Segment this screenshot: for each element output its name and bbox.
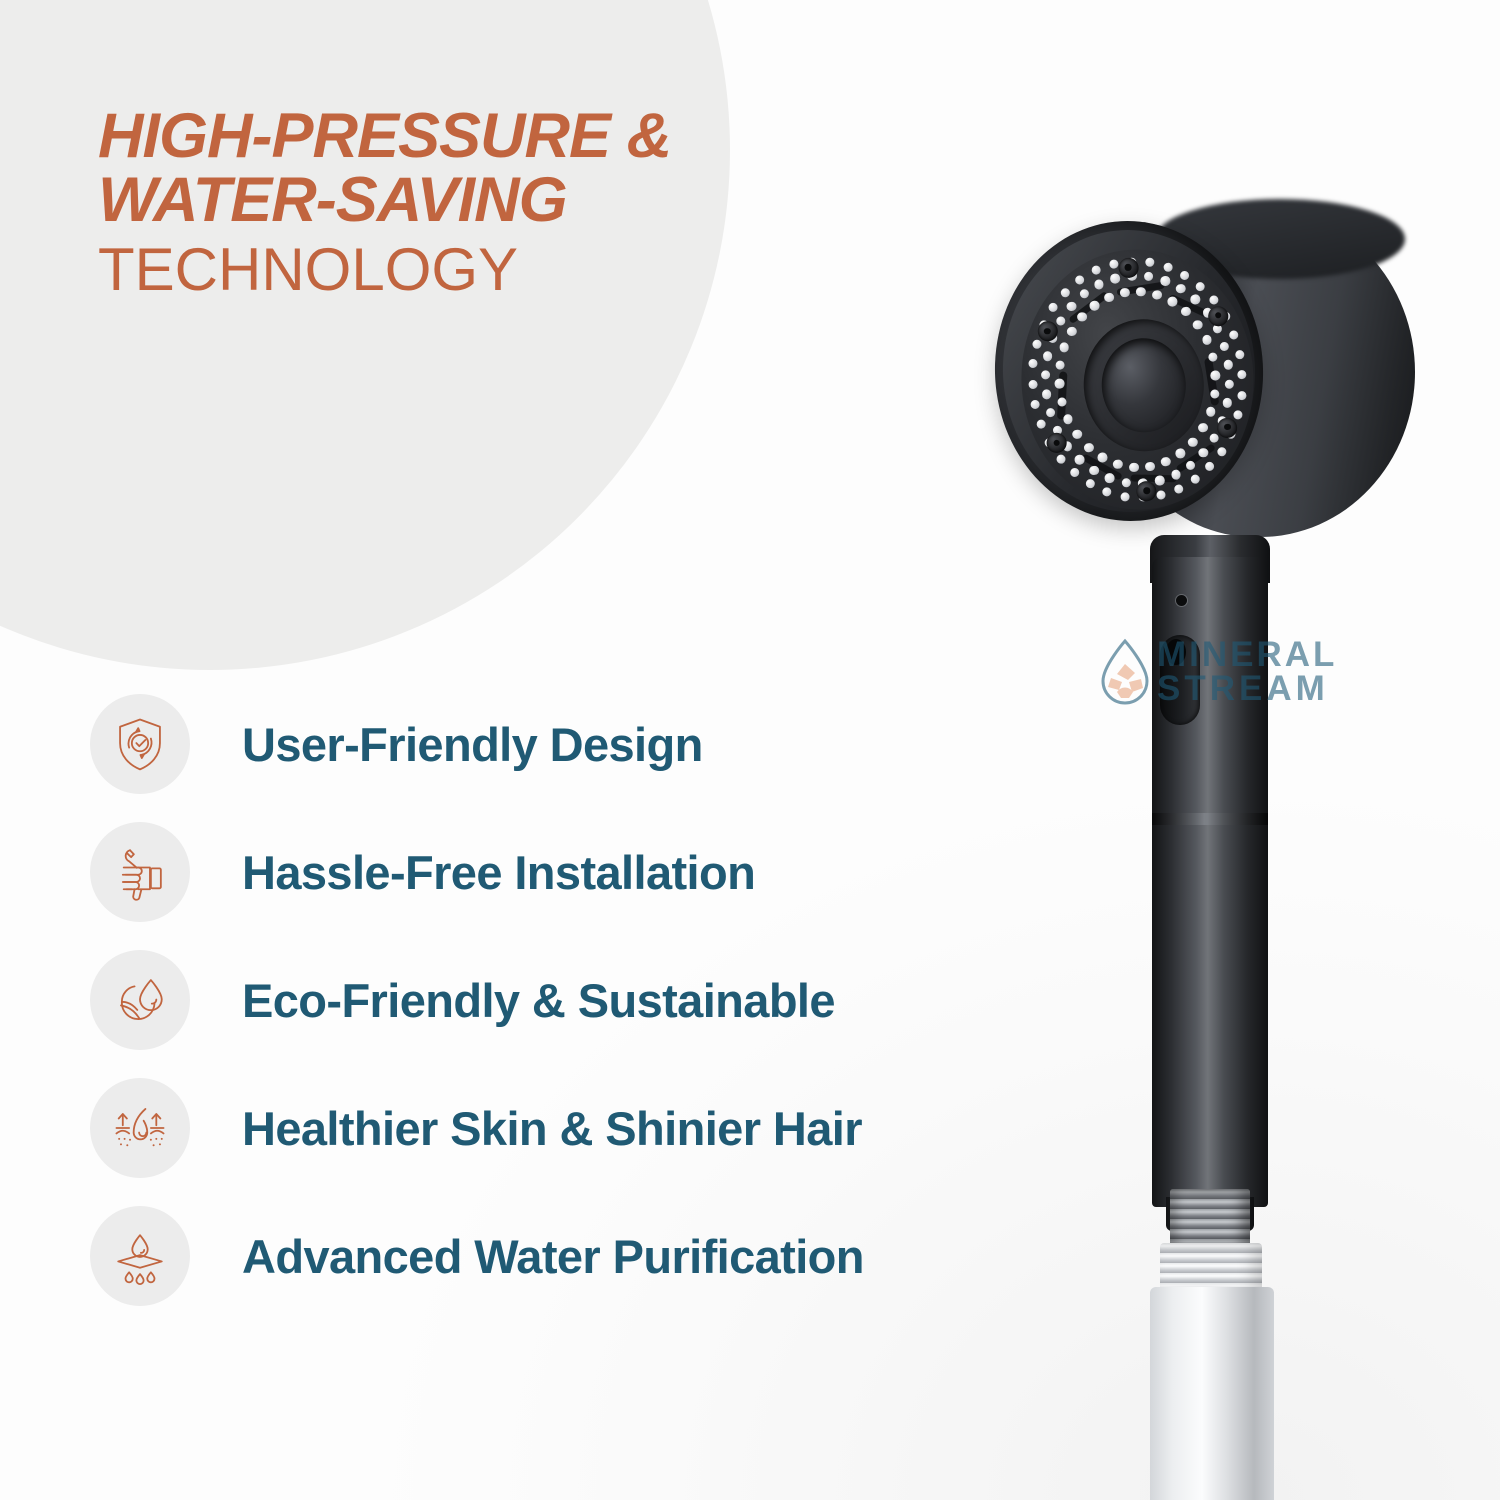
spray-nozzle	[1030, 400, 1039, 409]
spray-nozzle	[1202, 335, 1212, 345]
icon-badge	[90, 1078, 190, 1178]
spray-nozzle	[1152, 290, 1162, 300]
jet-port	[1136, 481, 1157, 502]
spray-nozzle	[1238, 370, 1247, 379]
spray-nozzle	[1056, 316, 1066, 326]
jet-port	[1208, 305, 1229, 326]
spray-nozzle	[1193, 320, 1203, 330]
feature-item-healthier-skin-shinier-hair: Healthier Skin & Shinier Hair	[90, 1064, 1090, 1192]
spray-nozzle	[1160, 276, 1170, 286]
spray-nozzle	[1163, 262, 1172, 271]
hair-follicle-arrows-icon	[111, 1099, 169, 1157]
spray-nozzle	[1136, 287, 1146, 297]
spray-nozzle	[1089, 466, 1099, 476]
spray-nozzle	[1210, 370, 1220, 380]
shower-head	[985, 185, 1415, 575]
icon-badge	[90, 950, 190, 1050]
feature-item-user-friendly-design: User-Friendly Design	[90, 680, 1090, 808]
spray-nozzle	[1145, 462, 1155, 472]
spray-nozzle	[1046, 408, 1056, 418]
spray-nozzle	[1110, 273, 1120, 283]
threaded-metal-connector	[1170, 1189, 1250, 1247]
feature-label: User-Friendly Design	[242, 717, 703, 772]
headline-line-2: WATER-SAVING	[98, 168, 798, 232]
spray-nozzle	[1028, 359, 1037, 368]
water-filter-drops-icon	[111, 1227, 169, 1285]
spray-nozzle	[1204, 462, 1213, 471]
spray-nozzle	[1061, 288, 1070, 297]
spray-nozzle	[1063, 414, 1073, 424]
spray-nozzle	[1090, 301, 1100, 311]
spray-nozzle	[1040, 370, 1050, 380]
spray-nozzle	[1104, 292, 1114, 302]
spray-nozzle	[1092, 266, 1101, 275]
feature-list: User-Friendly Design	[90, 680, 1090, 1320]
spray-nozzle	[1067, 326, 1077, 336]
feature-item-eco-friendly-sustainable: Eco-Friendly & Sustainable	[90, 936, 1090, 1064]
spray-nozzle	[1102, 487, 1111, 496]
spray-nozzle	[1085, 479, 1094, 488]
shield-check-refresh-icon	[111, 715, 169, 773]
spray-nozzle	[1066, 301, 1076, 311]
feature-label: Advanced Water Purification	[242, 1229, 864, 1284]
spray-nozzle	[1233, 411, 1242, 420]
spray-nozzle	[1167, 296, 1177, 306]
shower-head-spray-plate	[1015, 244, 1260, 516]
spray-nozzle	[1121, 478, 1131, 488]
hand-water-drop-icon	[111, 971, 169, 1029]
spray-nozzle	[1120, 288, 1130, 298]
spray-nozzle	[1223, 360, 1233, 370]
spray-nozzle	[1180, 270, 1189, 279]
spray-nozzle	[1209, 295, 1218, 304]
spray-nozzle	[1036, 420, 1045, 429]
spray-nozzle	[1217, 447, 1226, 456]
spray-nozzle	[1190, 294, 1200, 304]
plate-slot	[1204, 357, 1219, 406]
spray-nozzle	[1222, 398, 1232, 408]
feature-label: Healthier Skin & Shinier Hair	[242, 1101, 862, 1156]
feature-label: Eco-Friendly & Sustainable	[242, 973, 835, 1028]
spray-nozzle	[1084, 443, 1094, 453]
product-image-handheld-shower-head	[960, 175, 1500, 1500]
spray-nozzle	[1205, 407, 1215, 417]
hand-wrench-icon	[111, 843, 169, 901]
spray-nozzle	[1175, 449, 1185, 459]
spray-nozzle	[1188, 437, 1198, 447]
icon-badge	[90, 1206, 190, 1306]
spray-nozzle	[1075, 455, 1085, 465]
spray-nozzle	[1042, 389, 1052, 399]
hose-coupler-body	[1150, 1287, 1274, 1500]
handle-vent-hole	[1176, 595, 1187, 606]
spray-nozzle	[1190, 474, 1199, 483]
spray-mode-button[interactable]	[1160, 635, 1200, 725]
shower-handle	[1152, 557, 1268, 1207]
handle-seam-ring	[1152, 813, 1268, 825]
shower-head-rim	[996, 224, 1262, 519]
headline-line-3: TECHNOLOGY	[98, 239, 798, 300]
spray-nozzle	[1181, 307, 1191, 317]
spray-nozzle	[1032, 339, 1041, 348]
spray-nozzle	[1237, 391, 1246, 400]
shower-head-center-jet	[1099, 336, 1188, 434]
spray-nozzle	[1174, 484, 1183, 493]
spray-nozzle	[1198, 423, 1208, 433]
spray-nozzle	[1055, 379, 1065, 389]
spray-nozzle	[1186, 460, 1196, 470]
headline-ampersand: &	[627, 101, 672, 171]
spray-nozzle	[1156, 490, 1165, 499]
feature-label: Hassle-Free Installation	[242, 845, 755, 900]
spray-nozzle	[1028, 380, 1037, 389]
spray-nozzle	[1043, 351, 1053, 361]
icon-badge	[90, 694, 190, 794]
spray-nozzle	[1077, 312, 1087, 322]
spray-nozzle	[1219, 341, 1229, 351]
spray-nozzle	[1229, 330, 1238, 339]
spray-nozzle	[1105, 473, 1115, 483]
spray-nozzle	[1075, 275, 1084, 284]
spray-nozzle	[1176, 284, 1186, 294]
spray-nozzle	[1049, 303, 1058, 312]
spray-nozzle	[1059, 343, 1069, 353]
spray-nozzle	[1145, 258, 1154, 267]
hose-coupler-thread	[1160, 1243, 1262, 1293]
spray-nozzle	[1224, 379, 1234, 389]
spray-nozzle	[1072, 430, 1082, 440]
spray-nozzle	[1098, 453, 1108, 463]
spray-nozzle	[1109, 260, 1118, 269]
spray-nozzle	[1196, 281, 1205, 290]
spray-nozzle	[1094, 280, 1104, 290]
spray-nozzle	[1171, 470, 1181, 480]
feature-item-advanced-water-purification: Advanced Water Purification	[90, 1192, 1090, 1320]
shower-head-hub	[1080, 316, 1207, 454]
page-title: HIGH-PRESSURE & WATER-SAVING TECHNOLOGY	[98, 104, 798, 300]
spray-nozzle	[1235, 350, 1244, 359]
spray-nozzle	[1070, 468, 1079, 477]
spray-nozzle	[1055, 360, 1065, 370]
spray-nozzle	[1144, 272, 1154, 282]
spray-nozzle	[1161, 457, 1171, 467]
spray-nozzle	[1209, 433, 1219, 443]
product-feature-banner: HIGH-PRESSURE & WATER-SAVING TECHNOLOGY	[0, 0, 1500, 1500]
spray-nozzle	[1129, 462, 1139, 472]
icon-badge	[90, 822, 190, 922]
feature-item-hassle-free-installation: Hassle-Free Installation	[90, 808, 1090, 936]
spray-nozzle	[1120, 492, 1129, 501]
spray-nozzle	[1199, 448, 1209, 458]
spray-nozzle	[1056, 454, 1065, 463]
spray-nozzle	[1155, 476, 1165, 486]
spray-nozzle	[1113, 459, 1123, 469]
headline-line-1: HIGH-PRESSURE &	[98, 104, 798, 168]
spray-nozzle	[1079, 289, 1089, 299]
